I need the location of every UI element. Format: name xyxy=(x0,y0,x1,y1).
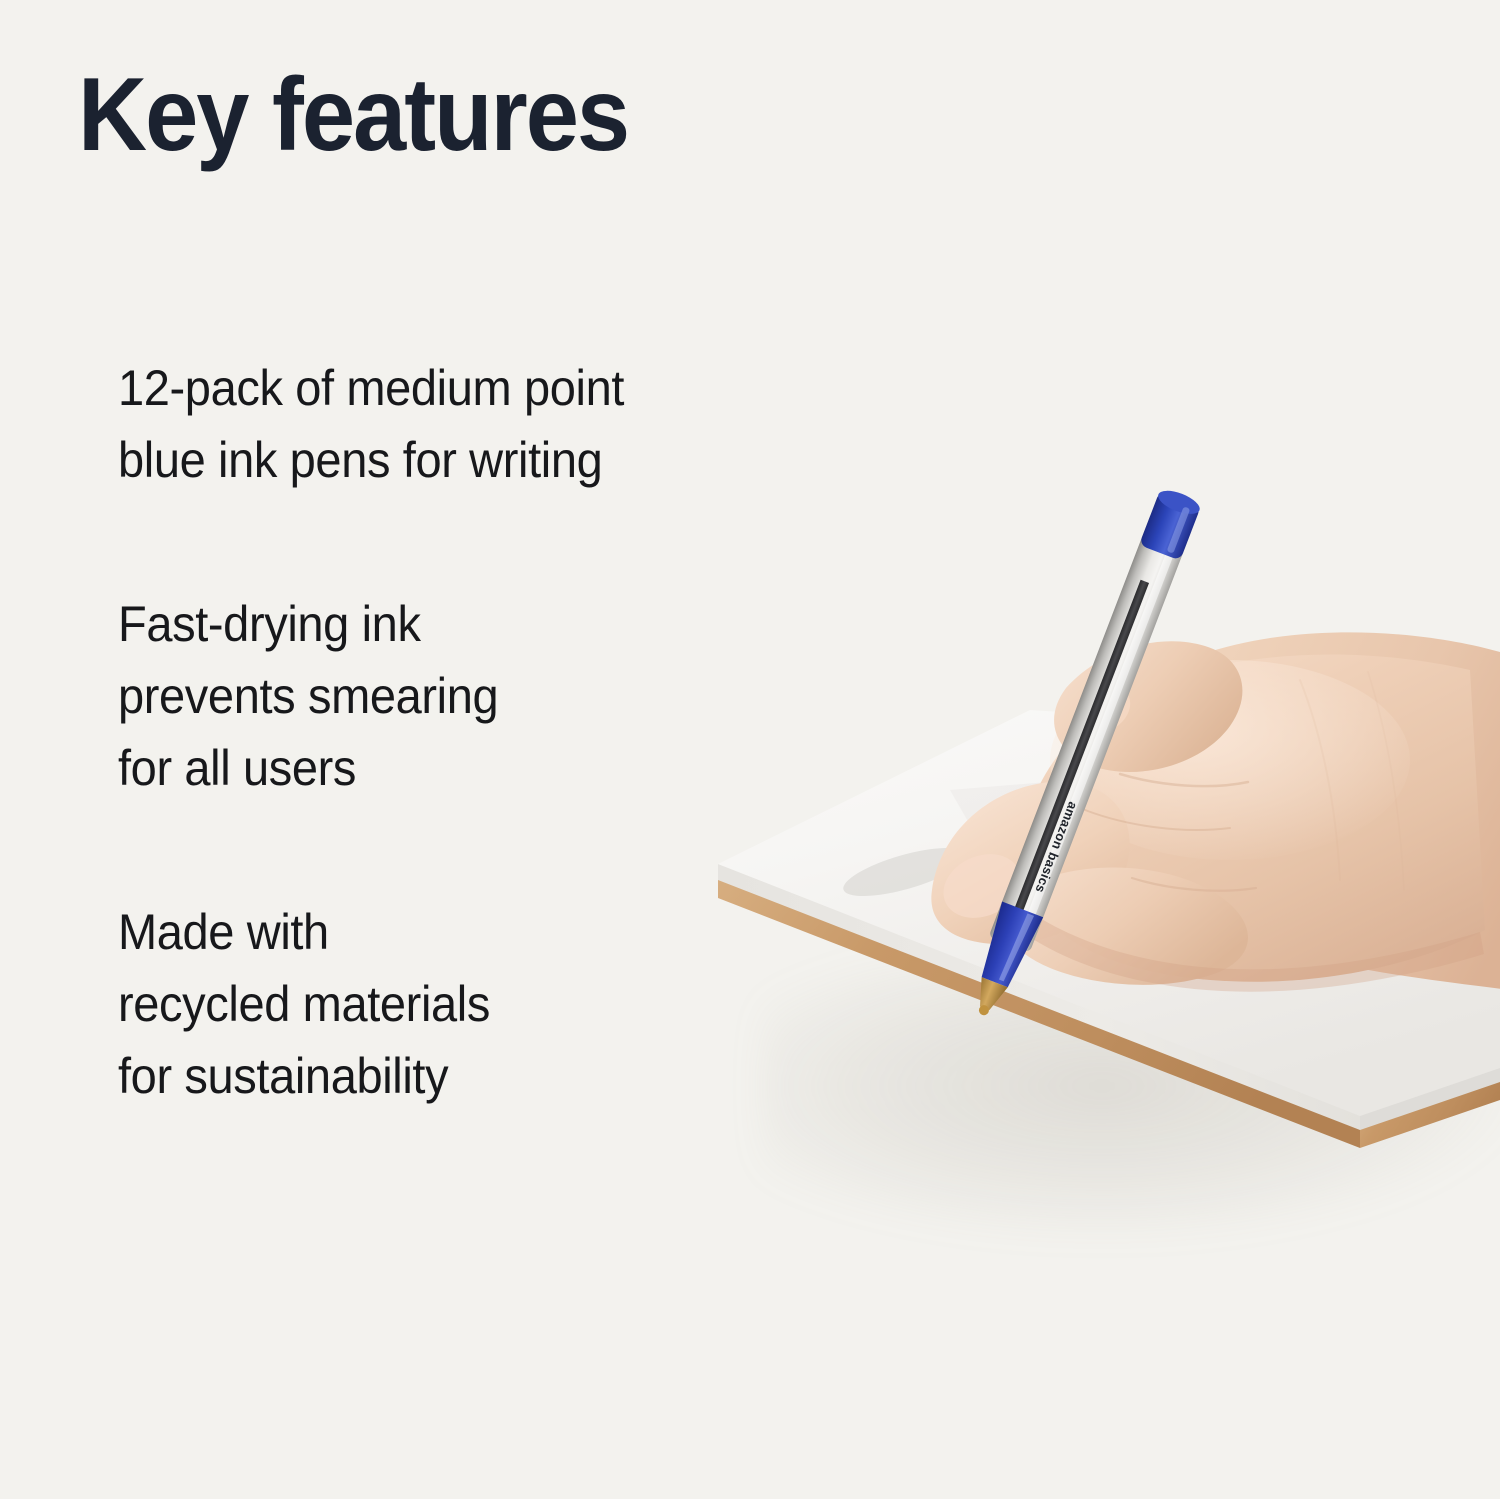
pen-nose-cone xyxy=(974,901,1043,990)
feature-line: for all users xyxy=(118,732,795,804)
feature-line: prevents smearing xyxy=(118,660,795,732)
product-photo: amazon basics xyxy=(700,380,1500,1340)
product-feature-canvas: Key features 12-pack of medium point blu… xyxy=(0,0,1500,1499)
feature-line: Fast-drying ink xyxy=(118,588,795,660)
feature-line: for sustainability xyxy=(118,1040,795,1112)
feature-line: Made with xyxy=(118,896,795,968)
feature-line: 12-pack of medium point xyxy=(118,352,795,424)
feature-line: recycled materials xyxy=(118,968,795,1040)
pen: amazon basics xyxy=(880,450,1280,1070)
page-title: Key features xyxy=(78,62,628,168)
feature-line: blue ink pens for writing xyxy=(118,424,795,496)
pen-ink-tube xyxy=(1002,580,1149,945)
